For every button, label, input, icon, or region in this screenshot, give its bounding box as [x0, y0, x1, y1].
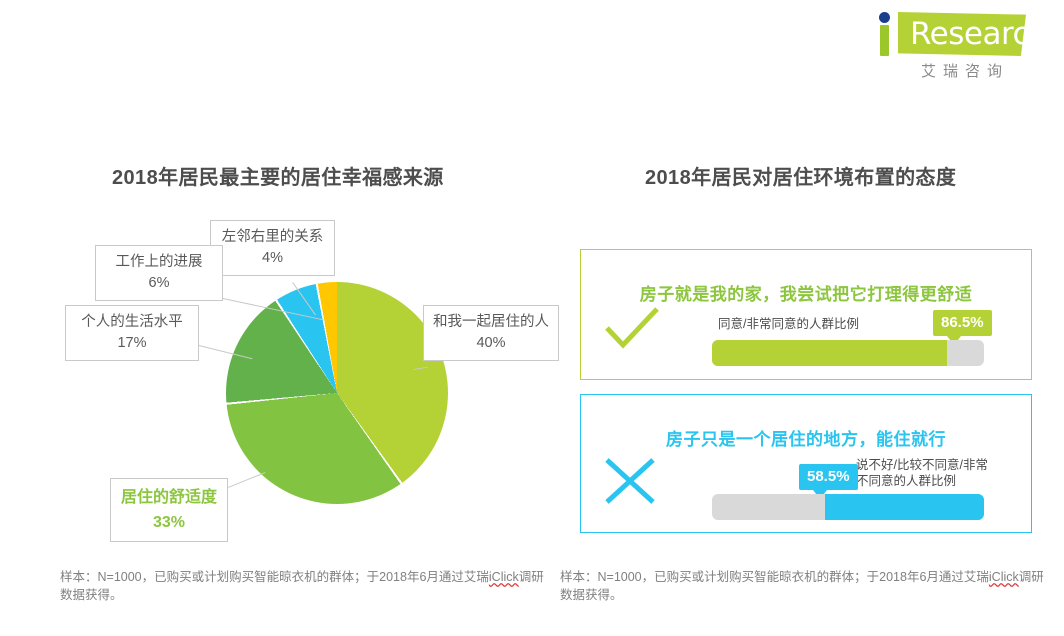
pie-label-neighbor-name: 左邻右里的关系: [222, 229, 324, 245]
logo-chinese-name: 艾瑞咨询: [904, 60, 1026, 81]
pie-label-living-value: 17%: [75, 333, 189, 354]
pie-label-comfort-name: 居住的舒适度: [121, 489, 217, 506]
left-footnote-prefix: 样本：N=1000，已购买或计划购买智能晾衣机的群体；于2018年6月通过艾瑞: [60, 570, 489, 584]
right-footnote-brand: iClick: [989, 570, 1019, 584]
pie-label-together-value: 40%: [433, 333, 549, 354]
logo-wordmark: Research: [910, 14, 1048, 54]
pie-label-work: 工作上的进展 6%: [95, 245, 223, 301]
pie-label-work-name: 工作上的进展: [116, 254, 203, 270]
card-agree-caption: 同意/非常同意的人群比例: [718, 316, 859, 332]
right-footnote-prefix: 样本：N=1000，已购买或计划购买智能晾衣机的群体；于2018年6月通过艾瑞: [560, 570, 989, 584]
card-disagree-bar-fill: [825, 494, 984, 520]
left-footnote: 样本：N=1000，已购买或计划购买智能晾衣机的群体；于2018年6月通过艾瑞i…: [60, 568, 552, 604]
card-agree-bar-fill: [712, 340, 947, 366]
card-agree-value-callout: 86.5%: [933, 310, 992, 336]
logo-mark: Research: [874, 8, 1034, 60]
card-disagree-caption: 说不好/比较不同意/非常不同意的人群比例: [856, 457, 991, 489]
pie-label-neighbor: 左邻右里的关系 4%: [210, 220, 335, 276]
right-panel-title: 2018年居民对居住环境布置的态度: [645, 161, 956, 190]
right-footnote: 样本：N=1000，已购买或计划购买智能晾衣机的群体；于2018年6月通过艾瑞i…: [560, 568, 1052, 604]
attitude-card-agree: 房子就是我的家，我尝试把它打理得更舒适 同意/非常同意的人群比例 86.5%: [580, 249, 1032, 380]
pie-label-comfort-value: 33%: [120, 510, 218, 535]
logo-letter-i-stem: [880, 25, 889, 56]
pie-label-together-name: 和我一起居住的人: [433, 314, 549, 330]
logo-letter-i-dot-icon: [879, 12, 890, 23]
card-agree-headline: 房子就是我的家，我尝试把它打理得更舒适: [581, 280, 1031, 305]
left-footnote-brand: iClick: [489, 570, 519, 584]
pie-label-cohabitants: 和我一起居住的人 40%: [423, 305, 559, 361]
pie-label-living-name: 个人的生活水平: [81, 314, 183, 330]
happiness-source-pie-chart: 左邻右里的关系 4% 工作上的进展 6% 个人的生活水平 17% 和我一起居住的…: [40, 210, 560, 540]
card-disagree-value-callout: 58.5%: [799, 464, 858, 490]
iresearch-logo: Research 艾瑞咨询: [874, 8, 1034, 90]
check-icon: [604, 306, 660, 351]
pie-label-comfort-highlighted: 居住的舒适度 33%: [110, 478, 228, 542]
pie-graphic: [226, 282, 448, 504]
card-disagree-headline: 房子只是一个居住的地方，能住就行: [581, 425, 1031, 450]
attitude-card-disagree: 房子只是一个居住的地方，能住就行 说不好/比较不同意/非常不同意的人群比例 58…: [580, 394, 1032, 533]
pie-label-neighbor-value: 4%: [220, 248, 325, 269]
cross-icon: [604, 457, 656, 505]
pie-label-work-value: 6%: [105, 273, 213, 294]
left-panel-title: 2018年居民最主要的居住幸福感来源: [112, 161, 444, 190]
card-disagree-bar-track: [712, 494, 984, 520]
leader-line-comfort: [228, 472, 265, 488]
pie-label-living-standard: 个人的生活水平 17%: [65, 305, 199, 361]
card-agree-bar-track: [712, 340, 984, 366]
